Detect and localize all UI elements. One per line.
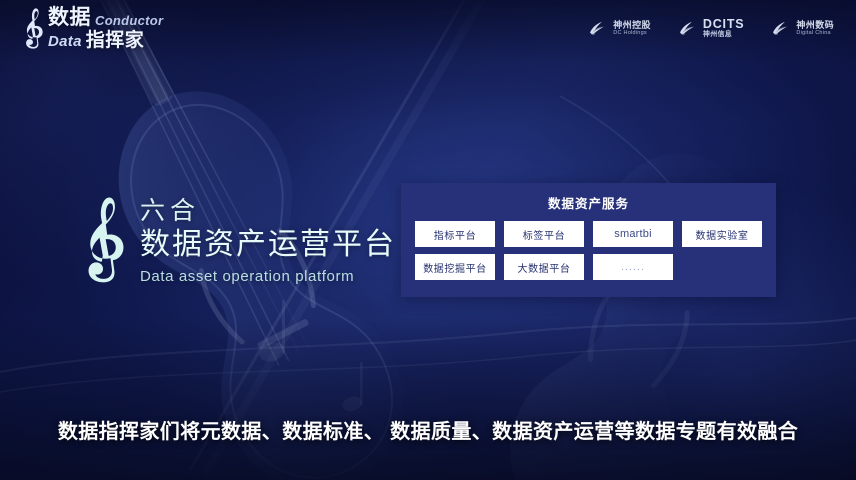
service-card-placeholder bbox=[682, 254, 762, 280]
service-card-more[interactable]: ...... bbox=[593, 254, 673, 280]
partner-cn-name: 神州信息 bbox=[703, 31, 745, 39]
treble-clef-icon bbox=[72, 186, 130, 296]
title-line-3-english: Data asset operation platform bbox=[140, 268, 396, 285]
brand-cn-bottom: 指挥家 bbox=[86, 31, 145, 50]
brand-cn-top: 数据 bbox=[48, 7, 91, 28]
treble-clef-icon bbox=[18, 7, 46, 51]
panel-title: 数据资产服务 bbox=[401, 183, 776, 212]
slide-stage: 数据 Conductor Data 指挥家 神州控股 DC Holdings bbox=[0, 0, 856, 480]
partner-en-name: DC Holdings bbox=[613, 30, 651, 36]
brand-en-top: Conductor bbox=[95, 14, 163, 28]
title-line-1: 六合 bbox=[140, 197, 396, 227]
partner-logo-dc-holdings[interactable]: 神州控股 DC Holdings bbox=[587, 17, 651, 38]
service-card-grid: 指标平台 标签平台 smartbi 数据实验室 数据挖掘平台 大数据平台 ...… bbox=[401, 212, 776, 280]
swirl-logo-icon bbox=[587, 17, 608, 38]
partner-logo-dcits[interactable]: DCITS 神州信息 bbox=[677, 17, 745, 39]
service-card-data-mining-platform[interactable]: 数据挖掘平台 bbox=[415, 254, 495, 280]
top-bar: 数据 Conductor Data 指挥家 神州控股 DC Holdings bbox=[0, 0, 856, 56]
brand-en-bottom: Data bbox=[48, 34, 82, 50]
service-card-smartbi[interactable]: smartbi bbox=[593, 221, 673, 247]
partner-cn-name: 神州数码 bbox=[796, 20, 834, 30]
service-card-metric-platform[interactable]: 指标平台 bbox=[415, 221, 495, 247]
partner-en-name: Digital China bbox=[796, 30, 834, 36]
service-card-tag-platform[interactable]: 标签平台 bbox=[504, 221, 584, 247]
service-card-big-data-platform[interactable]: 大数据平台 bbox=[504, 254, 584, 280]
platform-title-block: 六合 数据资产运营平台 Data asset operation platfor… bbox=[72, 186, 396, 296]
bottom-caption: 数据指挥家们将元数据、数据标准、 数据质量、数据资产运营等数据专题有效融合 bbox=[0, 415, 856, 444]
swirl-logo-icon bbox=[770, 17, 791, 38]
title-line-2: 数据资产运营平台 bbox=[140, 227, 396, 262]
service-card-data-lab[interactable]: 数据实验室 bbox=[682, 221, 762, 247]
partner-logos: 神州控股 DC Holdings DCITS 神州信息 bbox=[587, 17, 840, 39]
partner-logo-digital-china[interactable]: 神州数码 Digital China bbox=[770, 17, 834, 38]
swirl-logo-icon bbox=[677, 17, 698, 38]
partner-cn-name: 神州控股 bbox=[613, 20, 651, 30]
partner-en-name: DCITS bbox=[703, 17, 745, 31]
data-asset-service-panel: 数据资产服务 指标平台 标签平台 smartbi 数据实验室 数据挖掘平台 大数… bbox=[401, 183, 776, 297]
brand-logo[interactable]: 数据 Conductor Data 指挥家 bbox=[18, 6, 163, 51]
